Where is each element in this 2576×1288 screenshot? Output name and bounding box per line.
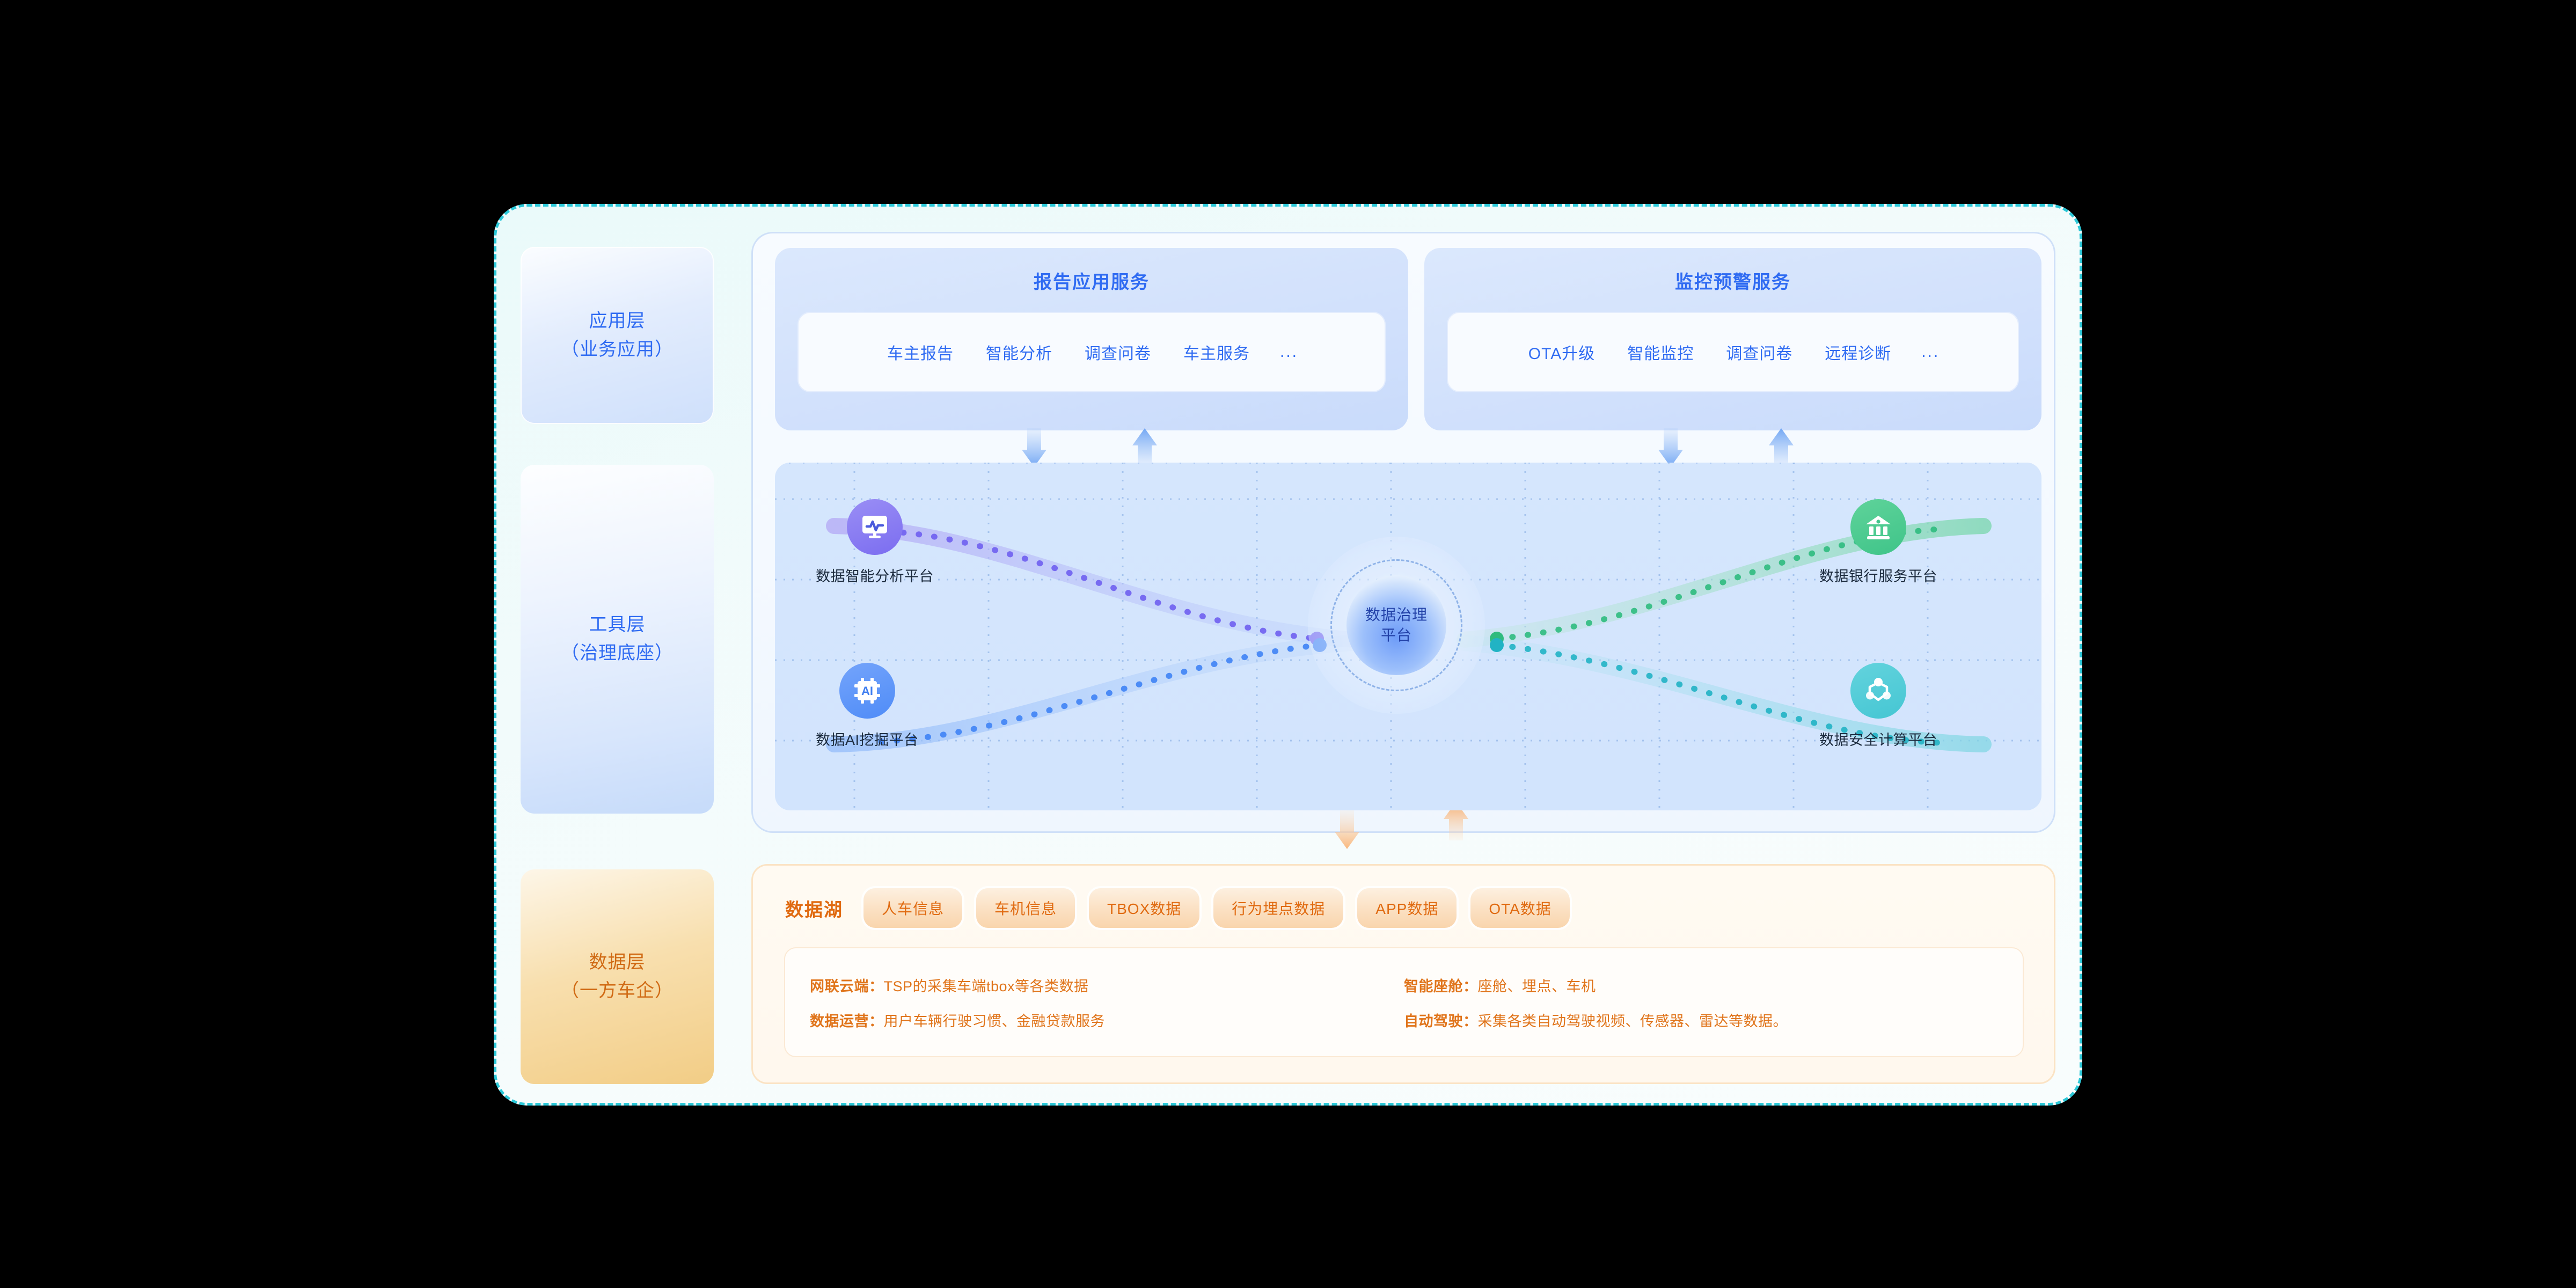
- service-card-report-title: 报告应用服务: [775, 267, 1408, 294]
- chip-monitor-more[interactable]: ...: [1907, 343, 1953, 361]
- desc-line-1: 智能座舱：座舱、埋点、车机: [1404, 975, 1998, 996]
- data-lake-tag-2[interactable]: TBOX数据: [1089, 888, 1199, 928]
- layer-card-tool: 工具层 （治理底座）: [521, 465, 714, 814]
- data-description-box: 网联云端：TSP的采集车端tbox等各类数据 智能座舱：座舱、埋点、车机 数据运…: [784, 947, 2024, 1057]
- data-lake-panel: 数据湖 人车信息 车机信息 TBOX数据 行为埋点数据 APP数据 OTA数据 …: [751, 864, 2055, 1084]
- chip-report-more[interactable]: ...: [1266, 343, 1312, 361]
- desc-label-0: 网联云端：: [810, 978, 884, 994]
- desc-text-3: 采集各类自动驾驶视频、传感器、雷达等数据。: [1478, 1013, 1788, 1029]
- ai-chip-icon: AI: [839, 663, 895, 719]
- platform-node-ai-mining[interactable]: AI 数据AI挖掘平台: [816, 663, 919, 749]
- monitor-pulse-icon: [847, 499, 903, 555]
- svg-text:AI: AI: [861, 684, 873, 698]
- chip-report-0[interactable]: 车主报告: [871, 340, 970, 364]
- desc-line-2: 数据运营：用户车辆行驶习惯、金融贷款服务: [810, 1009, 1404, 1030]
- layer-data-subtitle: （一方车企）: [561, 977, 674, 1005]
- data-lake-tag-3[interactable]: 行为埋点数据: [1213, 888, 1343, 928]
- data-lake-tag-row: 数据湖 人车信息 车机信息 TBOX数据 行为埋点数据 APP数据 OTA数据: [785, 888, 1570, 928]
- chip-report-2[interactable]: 调查问卷: [1069, 340, 1167, 364]
- chip-monitor-2[interactable]: 调查问卷: [1710, 340, 1809, 364]
- data-lake-tag-1[interactable]: 车机信息: [976, 888, 1075, 928]
- central-hub: 数据治理 平台: [1308, 537, 1485, 714]
- service-card-report: 报告应用服务 车主报告 智能分析 调查问卷 车主服务 ...: [775, 248, 1408, 430]
- hub-title-line2: 平台: [1365, 625, 1428, 646]
- layer-card-application: 应用层 （业务应用）: [521, 247, 714, 424]
- chip-report-1[interactable]: 智能分析: [970, 340, 1069, 364]
- shield-network-icon: [1850, 663, 1906, 719]
- platform-node-analysis[interactable]: 数据智能分析平台: [816, 499, 934, 586]
- desc-text-0: TSP的采集车端tbox等各类数据: [884, 978, 1089, 994]
- platform-label-ai-mining: 数据AI挖掘平台: [816, 728, 919, 749]
- data-lake-tag-4[interactable]: APP数据: [1357, 888, 1457, 928]
- platform-label-bank: 数据银行服务平台: [1819, 565, 1937, 586]
- platform-node-security[interactable]: 数据安全计算平台: [1819, 663, 1937, 749]
- arrow-up-report-icon: [1132, 428, 1157, 467]
- layer-data-title: 数据层: [589, 948, 646, 977]
- desc-label-2: 数据运营：: [810, 1013, 884, 1029]
- bank-icon: [1850, 499, 1906, 555]
- service-card-report-chip-row: 车主报告 智能分析 调查问卷 车主服务 ...: [797, 312, 1386, 392]
- desc-text-2: 用户车辆行驶习惯、金融贷款服务: [884, 1013, 1106, 1029]
- chip-monitor-1[interactable]: 智能监控: [1611, 340, 1710, 364]
- layer-card-data: 数据层 （一方车企）: [521, 869, 714, 1084]
- platform-node-bank[interactable]: 数据银行服务平台: [1819, 499, 1937, 586]
- data-lake-tag-0[interactable]: 人车信息: [863, 888, 962, 928]
- layer-application-title: 应用层: [589, 307, 646, 335]
- service-card-monitor-title: 监控预警服务: [1424, 267, 2041, 294]
- arrow-up-monitor-icon: [1769, 428, 1794, 467]
- arrow-down-data-icon: [1335, 810, 1359, 849]
- hub-title-line1: 数据治理: [1365, 605, 1428, 625]
- arrow-down-monitor-icon: [1658, 428, 1683, 467]
- desc-line-0: 网联云端：TSP的采集车端tbox等各类数据: [810, 975, 1404, 996]
- chip-report-3[interactable]: 车主服务: [1167, 340, 1266, 364]
- desc-label-1: 智能座舱：: [1404, 978, 1478, 994]
- layer-tool-title: 工具层: [589, 611, 646, 639]
- desc-text-1: 座舱、埋点、车机: [1478, 978, 1596, 994]
- chip-monitor-0[interactable]: OTA升级: [1512, 340, 1611, 364]
- data-lake-tag-5[interactable]: OTA数据: [1470, 888, 1569, 928]
- desc-label-3: 自动驾驶：: [1404, 1013, 1478, 1029]
- layer-tool-subtitle: （治理底座）: [561, 639, 674, 668]
- service-card-monitor-chip-row: OTA升级 智能监控 调查问卷 远程诊断 ...: [1447, 312, 2019, 392]
- arrow-down-report-icon: [1022, 428, 1046, 467]
- layer-application-subtitle: （业务应用）: [561, 335, 674, 364]
- hub-core[interactable]: 数据治理 平台: [1346, 575, 1446, 675]
- desc-line-3: 自动驾驶：采集各类自动驾驶视频、传感器、雷达等数据。: [1404, 1009, 1998, 1030]
- chip-monitor-3[interactable]: 远程诊断: [1809, 340, 1907, 364]
- platform-label-analysis: 数据智能分析平台: [816, 565, 934, 586]
- data-lake-title: 数据湖: [785, 895, 843, 921]
- platform-label-security: 数据安全计算平台: [1819, 728, 1937, 749]
- service-card-monitor: 监控预警服务 OTA升级 智能监控 调查问卷 远程诊断 ...: [1424, 248, 2041, 430]
